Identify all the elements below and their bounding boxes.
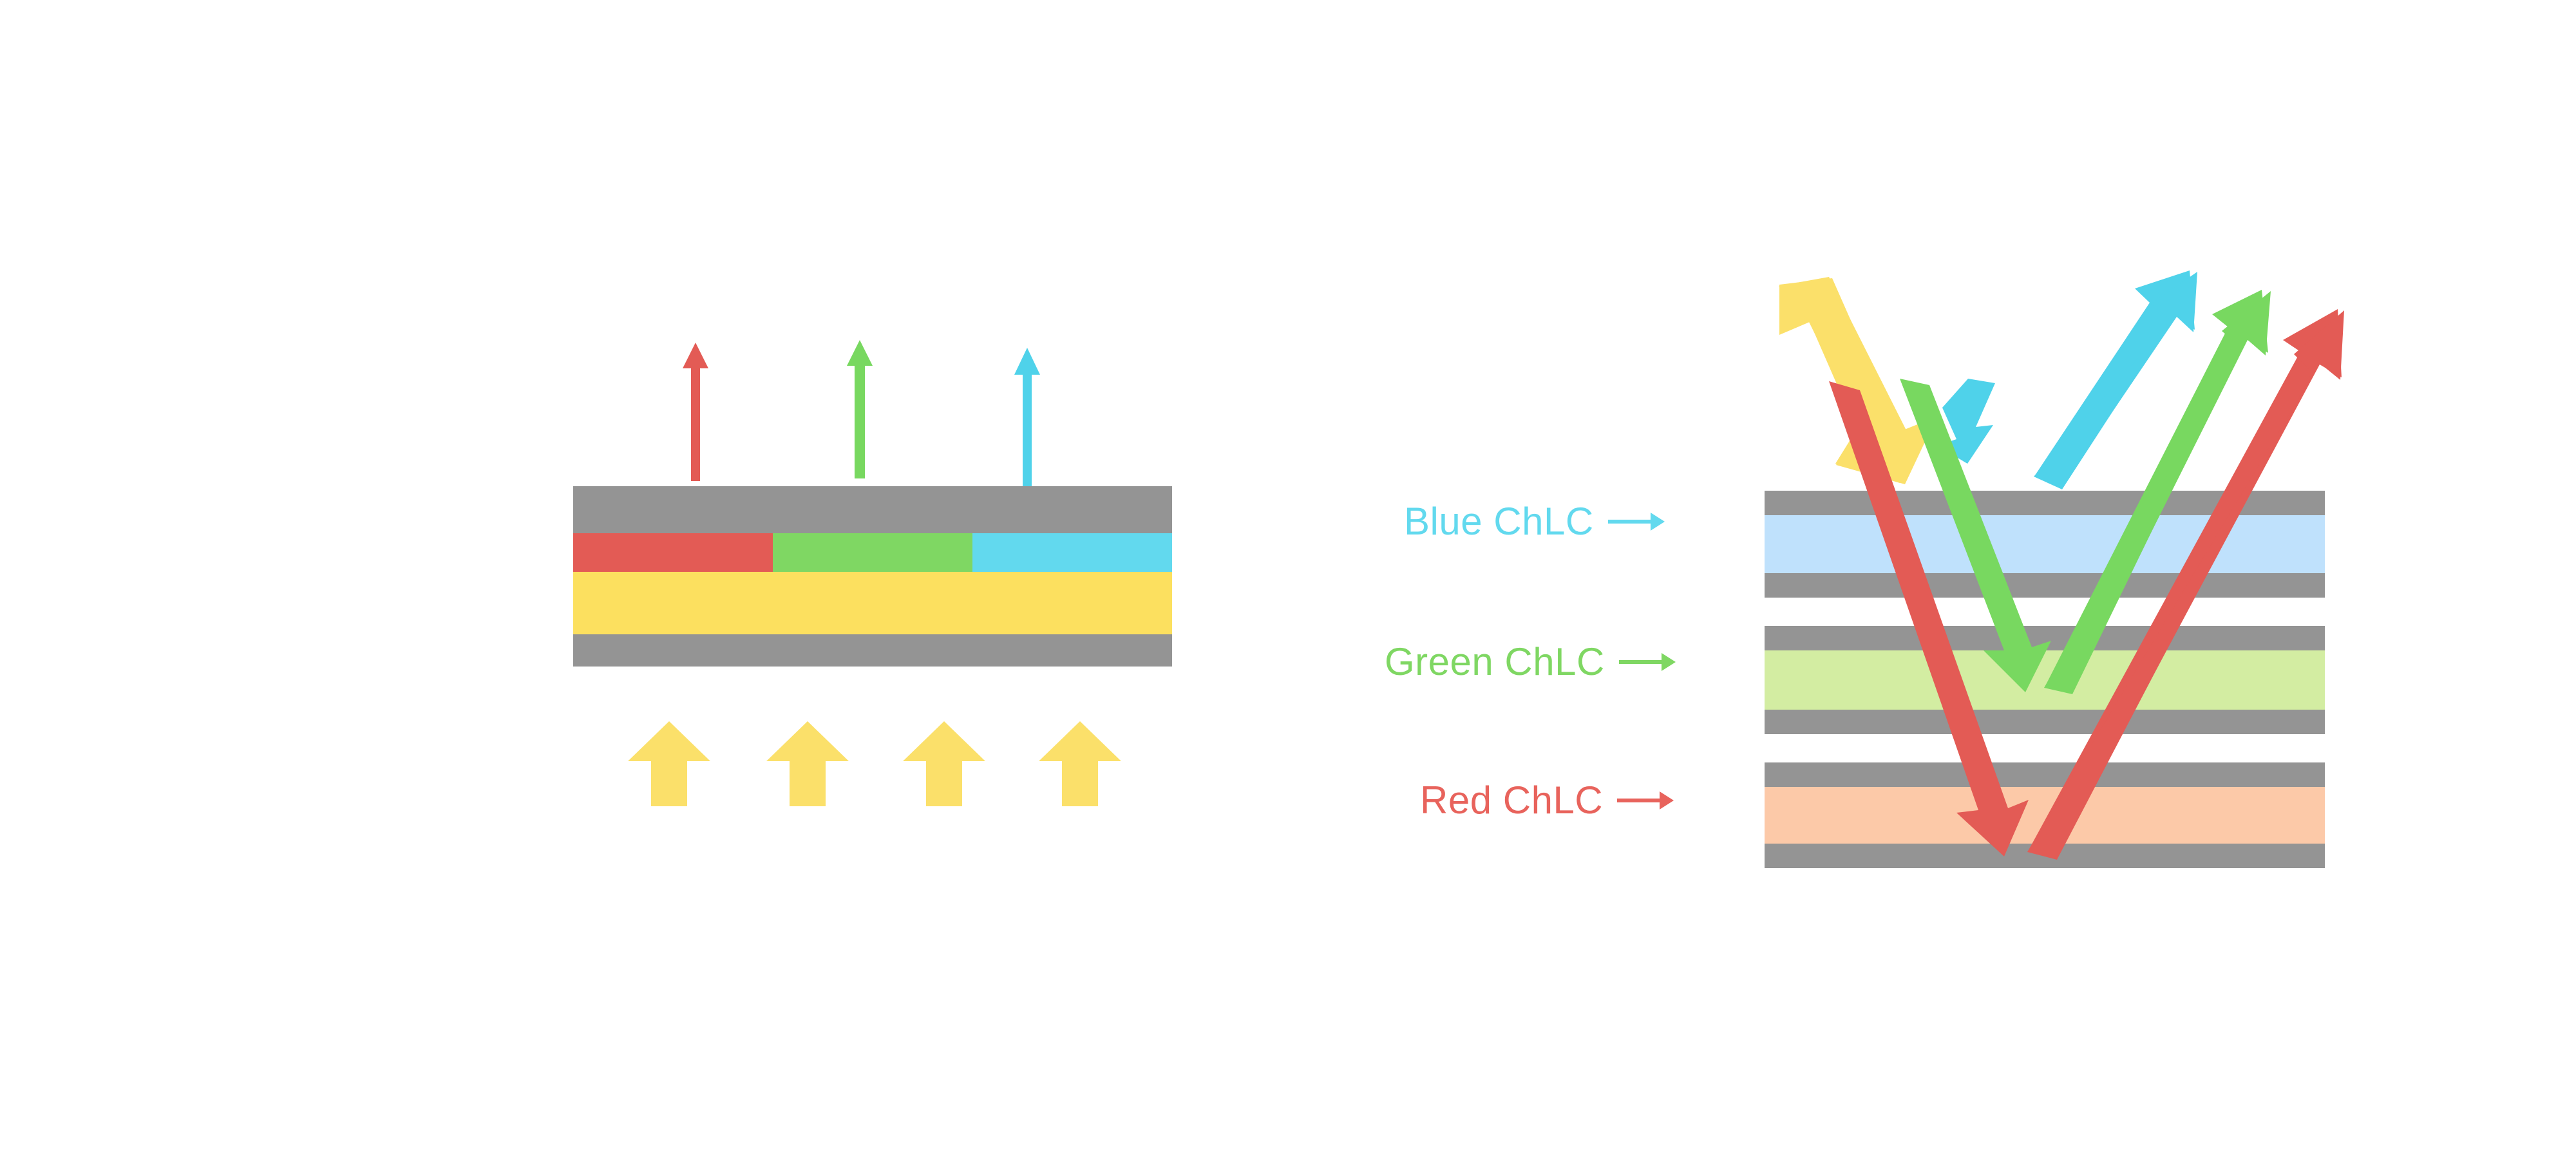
layer-gap-2 bbox=[1765, 734, 2325, 762]
blue-subpixel bbox=[972, 533, 1172, 572]
label-blue-chlc: Blue ChLC bbox=[1404, 499, 1594, 544]
rgb-color-filter-layer bbox=[573, 533, 1172, 572]
emissive-display-diagram bbox=[573, 335, 1179, 811]
layer-blue-chlc bbox=[1765, 515, 2325, 573]
green-emission-arrow bbox=[847, 340, 873, 478]
incident-light-arrow bbox=[1779, 278, 1935, 483]
label-row-green: Green ChLC bbox=[1385, 639, 1676, 684]
label-row-red: Red ChLC bbox=[1420, 778, 1674, 822]
red-emission-arrow bbox=[683, 343, 708, 481]
blue-emission-arrow bbox=[1014, 348, 1040, 486]
layer-green-chlc bbox=[1765, 650, 2325, 710]
green-subpixel bbox=[773, 533, 972, 572]
label-green-chlc: Green ChLC bbox=[1385, 639, 1605, 684]
blue-reflection-ray bbox=[1937, 270, 2197, 489]
bottom-electrode-layer bbox=[573, 634, 1172, 667]
layer-gray-6 bbox=[1765, 844, 2325, 868]
incident-light-arrow-body bbox=[1779, 277, 1937, 484]
top-electrode-layer bbox=[573, 486, 1172, 533]
right-layer-stack bbox=[1765, 491, 2325, 868]
figure-canvas: Blue ChLC Green ChLC Red ChLC bbox=[0, 0, 2576, 1154]
layer-gap-1 bbox=[1765, 598, 2325, 626]
backlight-layer bbox=[573, 572, 1172, 634]
reflective-chlc-diagram: Blue ChLC Green ChLC Red ChLC bbox=[1385, 270, 2415, 889]
arrow-right-icon-red bbox=[1617, 791, 1674, 809]
layer-red-chlc bbox=[1765, 787, 2325, 844]
backlight-arrow-3 bbox=[903, 721, 985, 806]
layer-gray-4 bbox=[1765, 710, 2325, 734]
backlight-arrow-4 bbox=[1039, 721, 1121, 806]
layer-gray-2 bbox=[1765, 573, 2325, 598]
layer-gray-5 bbox=[1765, 762, 2325, 787]
arrow-right-icon-blue bbox=[1608, 513, 1665, 531]
red-subpixel bbox=[573, 533, 773, 572]
backlight-arrow-1 bbox=[628, 721, 710, 806]
label-row-blue: Blue ChLC bbox=[1404, 499, 1665, 544]
layer-gray-1 bbox=[1765, 491, 2325, 515]
layer-gray-3 bbox=[1765, 626, 2325, 650]
left-layer-stack bbox=[573, 486, 1172, 667]
arrow-right-icon-green bbox=[1619, 653, 1676, 671]
label-red-chlc: Red ChLC bbox=[1420, 778, 1603, 822]
backlight-arrow-2 bbox=[766, 721, 849, 806]
